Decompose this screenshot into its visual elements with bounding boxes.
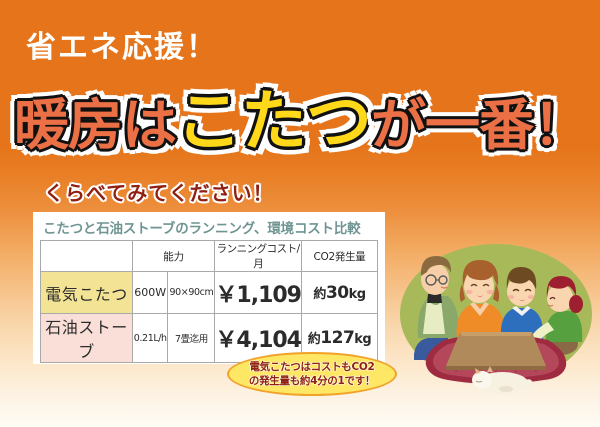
row-cost-kotatsu: ￥1,109: [215, 272, 302, 314]
row-co2-kotatsu: 約30kg: [302, 272, 378, 314]
header-band: 省エネ応援！ 暖房はこたつが一番！: [0, 0, 600, 172]
family-around-kotatsu-illustration: [398, 236, 594, 396]
mother-blush-left: [466, 290, 473, 294]
co2-value: 30: [326, 283, 349, 303]
table-header-row: 能力 ランニングコスト/月 CO2発生量: [41, 241, 378, 272]
cat-tail: [524, 379, 532, 389]
cost-symbol: ￥: [215, 328, 236, 353]
kotatsu-tabletop: [446, 332, 546, 370]
cost-value: 1,109: [236, 283, 301, 308]
cat-paw: [499, 386, 513, 392]
main-headline: 暖房はこたつが一番！: [14, 84, 594, 160]
row-name-kotatsu: 電気こたつ: [41, 272, 133, 314]
poster-root: 省エネ応援！ 暖房はこたつが一番！ くらべてみてください！ こたつと石油ストーブ…: [0, 0, 600, 427]
table-row: 電気こたつ 600W 90×90cm ￥1,109 約30kg: [41, 272, 378, 314]
table-title: こたつと石油ストーブのランニング、環境コスト比較: [43, 217, 360, 237]
boy-blush-right: [528, 295, 534, 299]
row-size-stove: 7畳迄用: [168, 314, 215, 363]
header-running-cost: ランニングコスト/月: [215, 241, 302, 272]
co2-unit: kg: [354, 332, 371, 347]
cost-comparison-table: 能力 ランニングコスト/月 CO2発生量 電気こたつ 600W 90×90cm …: [40, 240, 378, 363]
comparison-panel: こたつと石油ストーブのランニング、環境コスト比較 能力 ランニングコスト/月 C…: [33, 212, 385, 364]
headline-part-1: 暖房は: [14, 93, 176, 157]
boy-blush-left: [508, 295, 514, 299]
headline-part-3: が一番！: [371, 93, 587, 157]
girl-ponytail: [569, 295, 583, 313]
row-name-stove: 石油ストーブ: [41, 314, 133, 363]
co2-value: 127: [320, 328, 354, 348]
compare-invite-label: くらべてみてください！: [44, 183, 274, 203]
callout-bubble: 電気こたつはコストもCO2 の発生量も約4分の1です！: [227, 352, 397, 396]
father-turtleneck: [427, 294, 442, 303]
mother-blush-right: [487, 290, 494, 294]
header-co2: CO2発生量: [302, 241, 378, 272]
tagline-text: 省エネ応援！: [26, 33, 218, 63]
callout-line-1: 電気こたつはコストもCO2: [249, 361, 374, 373]
tabletop-highlight: [460, 332, 532, 336]
header-capacity: 能力: [133, 241, 215, 272]
cost-symbol: ￥: [215, 283, 236, 308]
cost-value: 4,104: [236, 328, 301, 353]
tabletop-edge: [446, 366, 546, 370]
tabletop-surface: [446, 332, 546, 366]
co2-unit: kg: [349, 287, 366, 302]
row-size-kotatsu: 90×90cm: [168, 272, 215, 314]
co2-prefix: 約: [313, 287, 326, 302]
illustration-svg: [398, 236, 594, 396]
headline-part-2: こたつ: [176, 83, 371, 160]
row-power-kotatsu: 600W: [133, 272, 168, 314]
callout-line-2: の発生量も約4分の1です！: [249, 375, 375, 387]
row-power-stove: 0.21L/h: [133, 314, 168, 363]
co2-prefix: 約: [308, 332, 321, 347]
callout-text: 電気こたつはコストもCO2 の発生量も約4分の1です！: [249, 360, 375, 388]
header-blank: [41, 241, 133, 272]
cat-head: [472, 371, 492, 389]
